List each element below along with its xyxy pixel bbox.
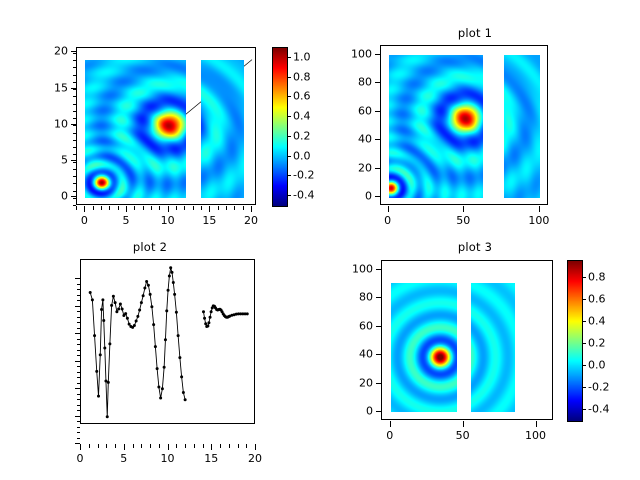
y-axis-minor-tick — [77, 317, 80, 318]
x-axis-tick — [536, 421, 537, 427]
data-point — [103, 347, 106, 350]
y-axis-minor-tick — [73, 82, 76, 83]
heatmap-image-left — [391, 283, 457, 412]
y-axis-minor-tick — [73, 60, 76, 61]
x-axis-minor-tick — [243, 206, 244, 210]
y-axis-minor-tick — [77, 295, 80, 296]
y-axis-tick-label: 0 — [366, 405, 373, 418]
x-axis-minor-tick — [168, 206, 169, 210]
data-line-1 — [90, 268, 185, 417]
y-axis-tick-label: 0 — [365, 190, 372, 203]
x-axis-minor-tick — [176, 444, 177, 448]
x-axis-minor-tick — [251, 206, 252, 210]
y-axis-minor-tick — [77, 394, 80, 395]
colorbar-tick — [287, 77, 291, 78]
x-axis-minor-tick — [133, 444, 134, 448]
x-axis-minor-tick — [159, 206, 160, 210]
data-point — [108, 342, 111, 345]
y-axis-minor-tick — [77, 399, 80, 400]
data-point — [168, 274, 171, 277]
data-point — [180, 375, 183, 378]
data-point — [138, 309, 141, 312]
data-point — [172, 281, 175, 284]
figure-canvas: 0510152005101520 -0.4-0.20.00.20.40.60.8… — [0, 0, 640, 480]
x-axis-minor-tick — [159, 444, 160, 448]
y-axis-tick-label: 15 — [54, 81, 68, 94]
y-axis-minor-tick — [77, 284, 80, 285]
colorbar-tick — [287, 96, 291, 97]
x-axis-minor-tick — [185, 444, 186, 448]
x-axis-minor-tick — [93, 206, 94, 210]
heatmap-area-top-right — [381, 46, 547, 204]
subplot-bottom-right: plot 3 -0.4-0.20.00.20.40.60.80204060801… — [320, 240, 640, 480]
colorbar-tick-label: 0.6 — [293, 90, 311, 103]
y-axis-minor-tick — [73, 133, 76, 134]
colorbar-tick-label: 0.4 — [588, 314, 606, 327]
y-axis-tick — [375, 168, 380, 169]
x-axis-minor-tick — [203, 444, 204, 448]
data-point — [177, 334, 180, 337]
y-axis-minor-tick — [77, 289, 80, 290]
x-axis-minor-tick — [98, 444, 99, 448]
x-axis-minor-tick — [124, 444, 125, 448]
x-axis-tick-label: 100 — [528, 214, 549, 227]
y-axis-minor-tick — [77, 322, 80, 323]
x-axis-minor-tick — [115, 444, 116, 448]
axes-bottom-left — [80, 259, 255, 424]
x-axis-minor-tick — [89, 444, 90, 448]
y-axis-tick-label: 0 — [61, 190, 68, 203]
y-axis-minor-tick — [77, 421, 80, 422]
heatmap-area-top-left — [77, 48, 255, 204]
y-axis-tick — [375, 139, 380, 140]
data-point — [114, 301, 117, 304]
x-axis-minor-tick — [211, 444, 212, 448]
colorbar-tick — [582, 277, 586, 278]
data-point — [149, 293, 152, 296]
y-axis-tick — [375, 196, 380, 197]
x-axis-minor-tick — [194, 444, 195, 448]
y-axis-tick-label: 100 — [351, 47, 372, 60]
y-axis-minor-tick — [73, 89, 76, 90]
subplot-top-left: 0510152005101520 -0.4-0.20.00.20.40.60.8… — [0, 0, 320, 240]
x-axis-minor-tick — [209, 206, 210, 210]
x-axis-tick-label: 20 — [248, 452, 262, 465]
colorbar-tick-label: 0.8 — [293, 70, 311, 83]
colorbar-tick — [582, 365, 586, 366]
data-point — [246, 312, 249, 315]
data-point — [157, 386, 160, 389]
y-axis-tick-label: 10 — [54, 117, 68, 130]
data-point — [119, 303, 122, 306]
y-axis-tick — [376, 383, 381, 384]
data-point — [178, 356, 181, 359]
colorbar-tick — [582, 299, 586, 300]
y-axis-minor-tick — [77, 405, 80, 406]
subplot-title-bottom-right: plot 3 — [370, 240, 580, 254]
y-axis-minor-tick — [73, 183, 76, 184]
colorbar-tick-label: 0.0 — [588, 358, 606, 371]
data-point — [175, 311, 178, 314]
y-axis-minor-tick — [73, 147, 76, 148]
y-axis-minor-tick — [77, 410, 80, 411]
data-point — [117, 307, 120, 310]
axes-top-left — [76, 47, 256, 205]
data-point — [112, 295, 115, 298]
colorbar-tick-label: 0.0 — [293, 149, 311, 162]
heatmap-image-right — [471, 283, 515, 412]
colorbar-tick — [287, 116, 291, 117]
data-point — [135, 320, 138, 323]
y-axis-tick — [375, 54, 380, 55]
y-axis-minor-tick — [77, 438, 80, 439]
colorbar-tick — [287, 57, 291, 58]
x-axis-minor-tick — [234, 206, 235, 210]
data-point — [161, 387, 164, 390]
data-point — [163, 366, 166, 369]
data-point — [152, 323, 155, 326]
y-axis-tick — [376, 269, 381, 270]
data-point — [154, 345, 157, 348]
x-axis-tick-label: 10 — [161, 214, 175, 227]
data-point — [147, 284, 150, 287]
y-axis-minor-tick — [77, 306, 80, 307]
x-axis-tick-label: 10 — [161, 452, 175, 465]
subplot-title-bottom-left: plot 2 — [40, 240, 260, 254]
data-point — [128, 323, 131, 326]
x-axis-minor-tick — [141, 444, 142, 448]
data-point — [95, 370, 98, 373]
y-axis-minor-tick — [77, 311, 80, 312]
data-point — [209, 316, 212, 319]
y-axis-minor-tick — [77, 432, 80, 433]
y-axis-tick-label: 20 — [358, 161, 372, 174]
y-axis-minor-tick — [73, 53, 76, 54]
y-axis-minor-tick — [73, 75, 76, 76]
y-axis-tick — [75, 278, 80, 279]
y-axis-minor-tick — [73, 176, 76, 177]
x-axis-tick — [463, 206, 464, 212]
x-axis-minor-tick — [246, 444, 247, 448]
data-point — [169, 266, 172, 269]
data-point — [156, 367, 159, 370]
x-axis-tick — [539, 206, 540, 212]
colorbar-tick-label: 0.4 — [293, 110, 311, 123]
axes-top-right — [380, 45, 548, 205]
colorbar-tick-label: -0.4 — [588, 402, 609, 415]
y-axis-tick-label: 80 — [358, 76, 372, 89]
x-axis-minor-tick — [150, 444, 151, 448]
y-axis-minor-tick — [77, 361, 80, 362]
y-axis-minor-tick — [77, 350, 80, 351]
x-axis-minor-tick — [226, 206, 227, 210]
data-point — [182, 391, 185, 394]
y-axis-minor-tick — [73, 125, 76, 126]
colorbar-bottom-right — [567, 260, 583, 422]
x-axis-tick-label: 0 — [77, 452, 84, 465]
x-axis-minor-tick — [84, 206, 85, 210]
colorbar-tick-label: 0.2 — [293, 129, 311, 142]
colorbar-tick-label: 0.6 — [588, 292, 606, 305]
y-axis-minor-tick — [73, 96, 76, 97]
subplot-title-top-right: plot 1 — [370, 26, 580, 40]
data-point — [100, 308, 103, 311]
x-axis-tick — [463, 421, 464, 427]
colorbar-gradient — [273, 48, 287, 206]
data-point — [93, 334, 96, 337]
y-axis-tick — [375, 82, 380, 83]
x-axis-minor-tick — [168, 444, 169, 448]
colorbar-tick — [287, 195, 291, 196]
y-axis-tick-label: 5 — [61, 154, 68, 167]
y-axis-minor-tick — [77, 328, 80, 329]
x-axis-minor-tick — [184, 206, 185, 210]
x-axis-tick-label: 20 — [244, 214, 258, 227]
colorbar-tick — [287, 136, 291, 137]
x-axis-minor-tick — [109, 206, 110, 210]
x-axis-tick-label: 50 — [456, 429, 470, 442]
colorbar-tick-label: -0.2 — [293, 169, 314, 182]
x-axis-minor-tick — [220, 444, 221, 448]
x-axis-minor-tick — [238, 444, 239, 448]
data-point — [106, 415, 109, 418]
data-point — [164, 338, 167, 341]
data-point — [140, 301, 143, 304]
y-axis-minor-tick — [73, 154, 76, 155]
x-axis-minor-tick — [101, 206, 102, 210]
x-axis-minor-tick — [76, 206, 77, 210]
data-point — [210, 310, 213, 313]
colorbar-top-left — [272, 47, 288, 207]
y-axis-tick-label: 80 — [359, 291, 373, 304]
x-axis-minor-tick — [151, 206, 152, 210]
data-point — [203, 317, 206, 320]
y-axis-minor-tick — [73, 118, 76, 119]
data-point — [204, 322, 207, 325]
colorbar-tick — [582, 343, 586, 344]
y-axis-minor-tick — [73, 111, 76, 112]
x-axis-tick-label: 15 — [204, 452, 218, 465]
data-point — [165, 309, 168, 312]
y-axis-tick — [375, 111, 380, 112]
y-axis-tick-label: 20 — [54, 45, 68, 58]
y-axis-tick-label: 60 — [358, 104, 372, 117]
data-point — [124, 312, 127, 315]
data-point — [126, 317, 129, 320]
y-axis-minor-tick — [77, 383, 80, 384]
colorbar-tick-label: 0.2 — [588, 336, 606, 349]
y-axis-minor-tick — [77, 300, 80, 301]
x-axis-tick-label: 50 — [456, 214, 470, 227]
y-axis-minor-tick — [77, 416, 80, 417]
data-point — [150, 305, 153, 308]
data-point — [207, 321, 210, 324]
data-point — [202, 310, 205, 313]
heatmap-image-right — [504, 55, 540, 198]
colorbar-tick-label: -0.2 — [588, 380, 609, 393]
x-axis-tick-label: 100 — [525, 429, 546, 442]
x-axis-tick-label: 0 — [384, 214, 391, 227]
x-axis-tick — [388, 206, 389, 212]
x-axis-tick-label: 0 — [81, 214, 88, 227]
data-point — [159, 397, 162, 400]
data-point — [99, 353, 102, 356]
line-series-svg — [81, 260, 254, 423]
data-point — [142, 294, 145, 297]
y-axis-tick — [376, 297, 381, 298]
colorbar-tick — [582, 387, 586, 388]
data-point — [133, 324, 136, 327]
x-axis-minor-tick — [80, 444, 81, 448]
axes-bottom-right — [381, 260, 553, 420]
colorbar-tick — [287, 175, 291, 176]
y-axis-minor-tick — [73, 162, 76, 163]
data-point — [115, 310, 118, 313]
y-axis-minor-tick — [73, 169, 76, 170]
heatmap-image-right — [201, 60, 244, 198]
y-axis-minor-tick — [73, 198, 76, 199]
x-axis-minor-tick — [134, 206, 135, 210]
x-axis-minor-tick — [229, 444, 230, 448]
colorbar-tick — [582, 321, 586, 322]
x-axis-tick — [390, 421, 391, 427]
heatmap-area-bottom-right — [382, 261, 552, 419]
y-axis-tick-label: 40 — [359, 348, 373, 361]
x-axis-minor-tick — [118, 206, 119, 210]
heatmap-image-left — [85, 60, 186, 198]
y-axis-tick — [376, 354, 381, 355]
data-point — [91, 298, 94, 301]
y-axis-minor-tick — [77, 366, 80, 367]
y-axis-minor-tick — [77, 344, 80, 345]
y-axis-minor-tick — [77, 339, 80, 340]
y-axis-tick-label: 20 — [359, 376, 373, 389]
data-point — [89, 291, 92, 294]
data-point — [167, 289, 170, 292]
y-axis-tick-label: 40 — [358, 133, 372, 146]
data-point — [107, 381, 110, 384]
colorbar-tick-label: 0.8 — [588, 270, 606, 283]
data-point — [121, 307, 124, 310]
subplot-top-right: plot 1 -0.4-0.20.00.20.40.60.81.00204060… — [320, 0, 640, 240]
x-axis-minor-tick — [143, 206, 144, 210]
x-axis-tick-label: 15 — [202, 214, 216, 227]
data-point — [136, 315, 139, 318]
y-axis-minor-tick — [73, 191, 76, 192]
heatmap-image-left — [389, 55, 483, 198]
y-axis-tick — [376, 326, 381, 327]
x-axis-minor-tick — [126, 206, 127, 210]
y-axis-minor-tick — [73, 104, 76, 105]
line-plot-area — [81, 260, 254, 423]
y-axis-minor-tick — [77, 333, 80, 334]
x-axis-minor-tick — [201, 206, 202, 210]
y-axis-minor-tick — [77, 427, 80, 428]
y-axis-tick-label: 60 — [359, 319, 373, 332]
data-point — [102, 319, 105, 322]
data-point — [110, 304, 113, 307]
data-point — [173, 293, 176, 296]
data-point — [184, 398, 187, 401]
y-axis-minor-tick — [77, 377, 80, 378]
y-axis-minor-tick — [77, 388, 80, 389]
colorbar-tick — [582, 409, 586, 410]
subplot-bottom-left: plot 2 -0.4-0.3-0.2-0.10.00.10.205101520 — [0, 240, 320, 480]
y-axis-minor-tick — [77, 372, 80, 373]
data-point — [171, 271, 174, 274]
x-axis-minor-tick — [255, 444, 256, 448]
data-point — [101, 298, 104, 301]
data-point — [145, 280, 148, 283]
y-axis-minor-tick — [73, 67, 76, 68]
x-axis-tick-label: 0 — [386, 429, 393, 442]
y-axis-minor-tick — [77, 355, 80, 356]
x-axis-tick-label: 5 — [120, 452, 127, 465]
y-axis-minor-tick — [73, 140, 76, 141]
colorbar-tick-label: 1.0 — [293, 50, 311, 63]
colorbar-tick-label: -0.4 — [293, 189, 314, 202]
colorbar-gradient — [568, 261, 582, 421]
data-point — [206, 325, 209, 328]
x-axis-tick-label: 5 — [123, 214, 130, 227]
data-point — [143, 287, 146, 290]
y-axis-tick-label: 100 — [352, 262, 373, 275]
data-point — [97, 395, 100, 398]
colorbar-tick — [287, 156, 291, 157]
x-axis-minor-tick — [176, 206, 177, 210]
y-axis-tick — [376, 411, 381, 412]
x-axis-minor-tick — [106, 444, 107, 448]
x-axis-minor-tick — [193, 206, 194, 210]
x-axis-minor-tick — [218, 206, 219, 210]
